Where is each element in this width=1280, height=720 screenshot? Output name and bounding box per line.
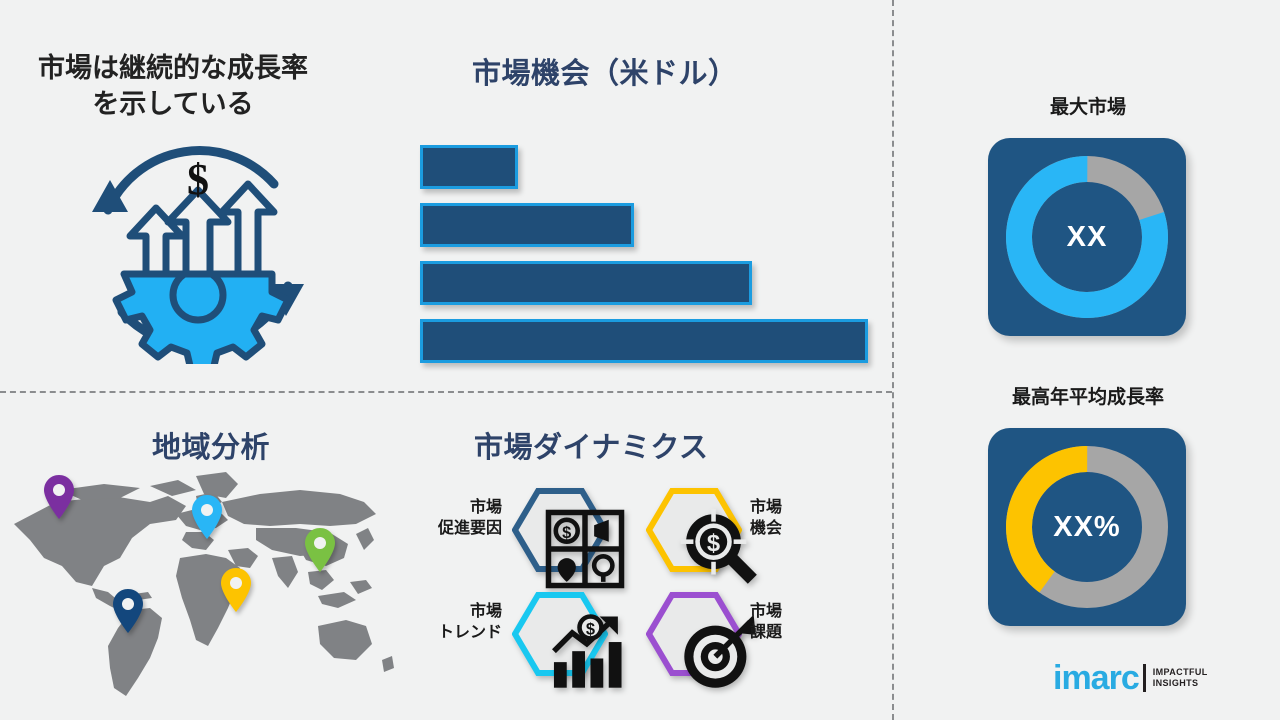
page-title-highest-cagr: 最高年平均成長率 [962,382,1214,409]
dynamics-label-market-trends: 市場 トレンド [410,602,502,644]
market-opportunity-bar-chart [420,145,880,350]
map-pin-asia-pacific [303,527,337,573]
horizontal-divider [0,391,892,393]
logo-tagline-line1: IMPACTFUL [1153,667,1208,677]
bar-growth-icon: $ [537,611,583,657]
market-drivers-hexagon[interactable]: $ [512,488,608,572]
page-title-dynamics: 市場ダイナミクス [474,424,709,466]
bar-item [420,319,868,363]
dynamics-label-market-opportunities: 市場 機会 [750,498,842,540]
logo-divider [1143,664,1146,692]
highest-cagr-donut-card: XX% [988,428,1186,626]
growth-cycle-icon: $ [78,132,318,364]
market-trends-hexagon[interactable]: $ [512,592,608,676]
logo-tagline-line2: INSIGHTS [1153,678,1199,688]
logo-wordmark: imarc [1053,661,1139,695]
map-pin-middle-east-africa [219,567,253,613]
magnifier-dollar-icon: $ [671,507,717,553]
map-pin-latin-america [111,588,145,634]
imarc-logo: imarc IMPACTFUL INSIGHTS [1053,658,1208,698]
page-title-opportunity: 市場機会（米ドル） [472,50,738,92]
svg-text:$: $ [562,524,571,542]
slide-canvas: 市場は継続的な成長率 を示している $ 市場機会（米ドル） [0,0,1280,720]
largest-market-value: XX [988,138,1186,336]
dynamics-label-market-challenges: 市場 課題 [750,602,842,644]
market-opportunities-hexagon[interactable]: $ [646,488,742,572]
market-challenges-hexagon[interactable] [646,592,742,676]
highest-cagr-value: XX% [988,428,1186,626]
target-arrow-icon [671,611,717,657]
dollar-symbol: $ [187,155,209,204]
map-pin-europe [190,494,224,540]
page-title-regional: 地域分析 [152,424,270,466]
svg-text:$: $ [707,531,720,557]
world-map [0,462,400,712]
logo-tagline: IMPACTFUL INSIGHTS [1153,667,1208,690]
page-title-largest-market: 最大市場 [962,92,1214,119]
bar-item [420,261,752,305]
bar-item [420,203,634,247]
bar-item [420,145,518,189]
vertical-divider [892,0,894,720]
largest-market-donut-card: XX [988,138,1186,336]
dynamics-label-market-drivers: 市場 促進要因 [410,498,502,540]
puzzle-icon: $ [537,507,583,553]
svg-text:$: $ [586,621,595,639]
map-pin-north-america [42,474,76,520]
page-title-growth: 市場は継続的な成長率 を示している [38,50,308,123]
